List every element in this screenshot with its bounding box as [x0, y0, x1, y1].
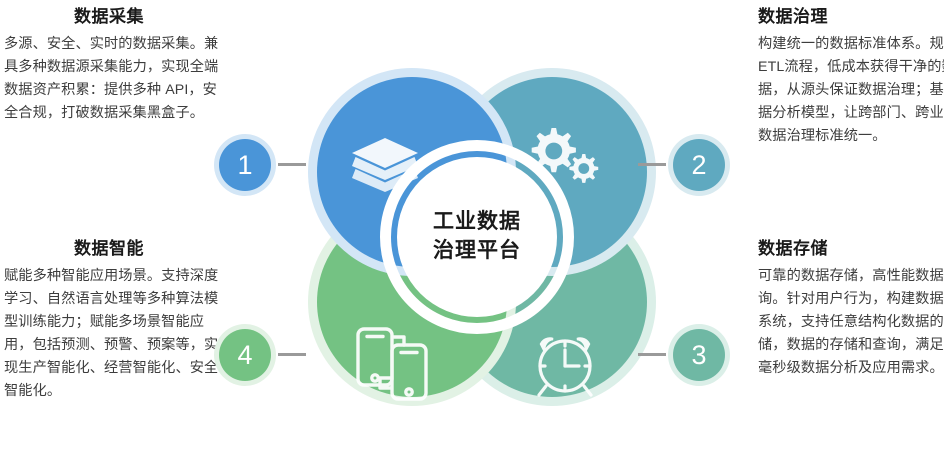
- connector-line-4: [278, 353, 306, 356]
- badge-4-intelligence[interactable]: 4: [214, 324, 276, 386]
- badge-3-storage[interactable]: 3: [668, 324, 730, 386]
- section-body-intelligence: 赋能多种智能应用场景。支持深度学习、自然语言处理等多种算法模型训练能力；赋能多场…: [4, 265, 220, 403]
- section-title-governance: 数据治理: [758, 6, 944, 29]
- connector-line-1: [278, 163, 306, 166]
- section-text-storage: 数据存储 可靠的数据存储，高性能数据查询。针对用户行为，构建数据仓库系统，支持任…: [758, 238, 944, 380]
- badge-1-number: 1: [237, 152, 252, 179]
- platform-title: 工业数据 治理平台: [433, 208, 521, 266]
- section-text-collect: 数据采集 多源、安全、实时的数据采集。兼具多种数据源采集能力，实现全端数据资产积…: [4, 6, 220, 125]
- badge-2-governance[interactable]: 2: [668, 134, 730, 196]
- section-body-storage: 可靠的数据存储，高性能数据查询。针对用户行为，构建数据仓库系统，支持任意结构化数…: [758, 265, 944, 380]
- badge-2-number: 2: [691, 152, 706, 179]
- section-body-collect: 多源、安全、实时的数据采集。兼具多种数据源采集能力，实现全端数据资产积累：提供多…: [4, 33, 220, 125]
- infographic-stage: 数据采集 多源、安全、实时的数据采集。兼具多种数据源采集能力，实现全端数据资产积…: [0, 0, 944, 465]
- section-title-collect: 数据采集: [4, 6, 220, 29]
- alarm-clock-icon: [528, 330, 602, 407]
- badge-4-number: 4: [237, 342, 252, 369]
- section-text-governance: 数据治理 构建统一的数据标准体系。规范 ETL流程，低成本获得干净的数据，从源头…: [758, 6, 944, 148]
- connector-line-3: [638, 353, 666, 356]
- badge-3-number: 3: [691, 342, 706, 369]
- mobile-devices-icon: [352, 326, 436, 407]
- center-hub: 工业数据 治理平台: [397, 157, 557, 317]
- section-text-intelligence: 数据智能 赋能多种智能应用场景。支持深度学习、自然语言处理等多种算法模型训练能力…: [4, 238, 220, 403]
- connector-line-2: [638, 163, 666, 166]
- four-quadrant-circle-diagram: 工业数据 治理平台: [232, 58, 732, 418]
- badge-1-collect[interactable]: 1: [214, 134, 276, 196]
- section-title-intelligence: 数据智能: [4, 238, 220, 261]
- section-title-storage: 数据存储: [758, 238, 944, 261]
- section-body-governance: 构建统一的数据标准体系。规范 ETL流程，低成本获得干净的数据，从源头保证数据治…: [758, 33, 944, 148]
